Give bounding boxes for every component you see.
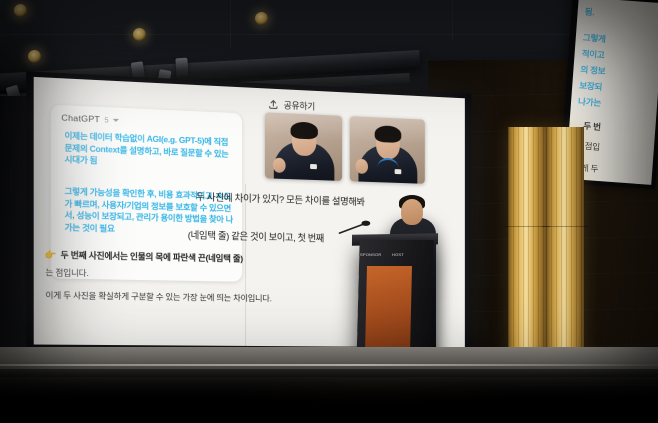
slide-body-line-1: 는 점입니다. <box>45 266 88 279</box>
share-upload-icon <box>268 99 279 110</box>
chat-model-version: 5 <box>104 115 108 124</box>
photo-hand <box>356 159 368 174</box>
conference-stage-photo: ChatGPT 5 이제는 데이터 학습없이 AGI(e.g. GPT-5)에 … <box>0 0 658 423</box>
comparison-photo-left <box>265 112 342 181</box>
chat-paragraph-1: 이제는 데이터 학습없이 AGI(e.g. GPT-5)에 직접 문제의 Con… <box>65 130 236 172</box>
ceiling-spotlight <box>14 4 27 17</box>
photo-name-badge <box>310 164 317 169</box>
chat-model-name: ChatGPT <box>61 112 100 124</box>
stage-light-fixture <box>175 58 188 78</box>
pointing-hand-icon: 👉 <box>44 249 56 261</box>
side-screen-line: 적이고 <box>581 47 605 61</box>
slide-body-line-2: 이게 두 사진을 확실하게 구분할 수 있는 가장 눈에 띄는 차이입니다. <box>45 289 271 305</box>
ceiling-seam <box>0 34 658 35</box>
ceiling-spotlight <box>28 50 41 63</box>
podium-logo-left: SPONSOR <box>360 243 387 251</box>
slide-divider <box>245 184 246 348</box>
speaker-head <box>401 199 423 225</box>
side-screen-line: 그렇게 <box>582 32 606 46</box>
ceiling-spotlight <box>255 12 268 25</box>
podium-logo-right-text: HOST <box>392 252 404 257</box>
side-screen-line: 두 번 <box>583 120 601 133</box>
chat-model-header[interactable]: ChatGPT 5 <box>61 112 119 125</box>
side-screen-line: 나가는 <box>578 95 602 109</box>
column-seam <box>542 226 588 227</box>
chevron-down-icon <box>113 119 119 122</box>
ceiling-seam <box>230 0 231 48</box>
side-screen-line: 됨. <box>584 6 595 19</box>
side-screen-line: 의 정보 <box>580 63 606 77</box>
ceiling-spotlight <box>133 28 146 41</box>
share-button-label: 공유하기 <box>284 98 315 112</box>
podium-wood-panel <box>365 266 412 353</box>
side-screen-line: 보장되 <box>579 79 603 93</box>
foreground-shadow <box>0 377 658 423</box>
decorative-column <box>508 127 546 379</box>
share-button[interactable]: 공유하기 <box>268 98 315 113</box>
ceiling-seam <box>452 0 453 40</box>
podium-logo-right: HOST <box>392 243 422 251</box>
blue-lanyard <box>377 158 398 177</box>
comparison-photo-right <box>350 116 425 184</box>
decorative-column <box>546 127 584 379</box>
photo-hand <box>273 158 286 173</box>
photo-name-badge <box>395 169 402 174</box>
podium-logo-left-text: SPONSOR <box>360 252 381 257</box>
